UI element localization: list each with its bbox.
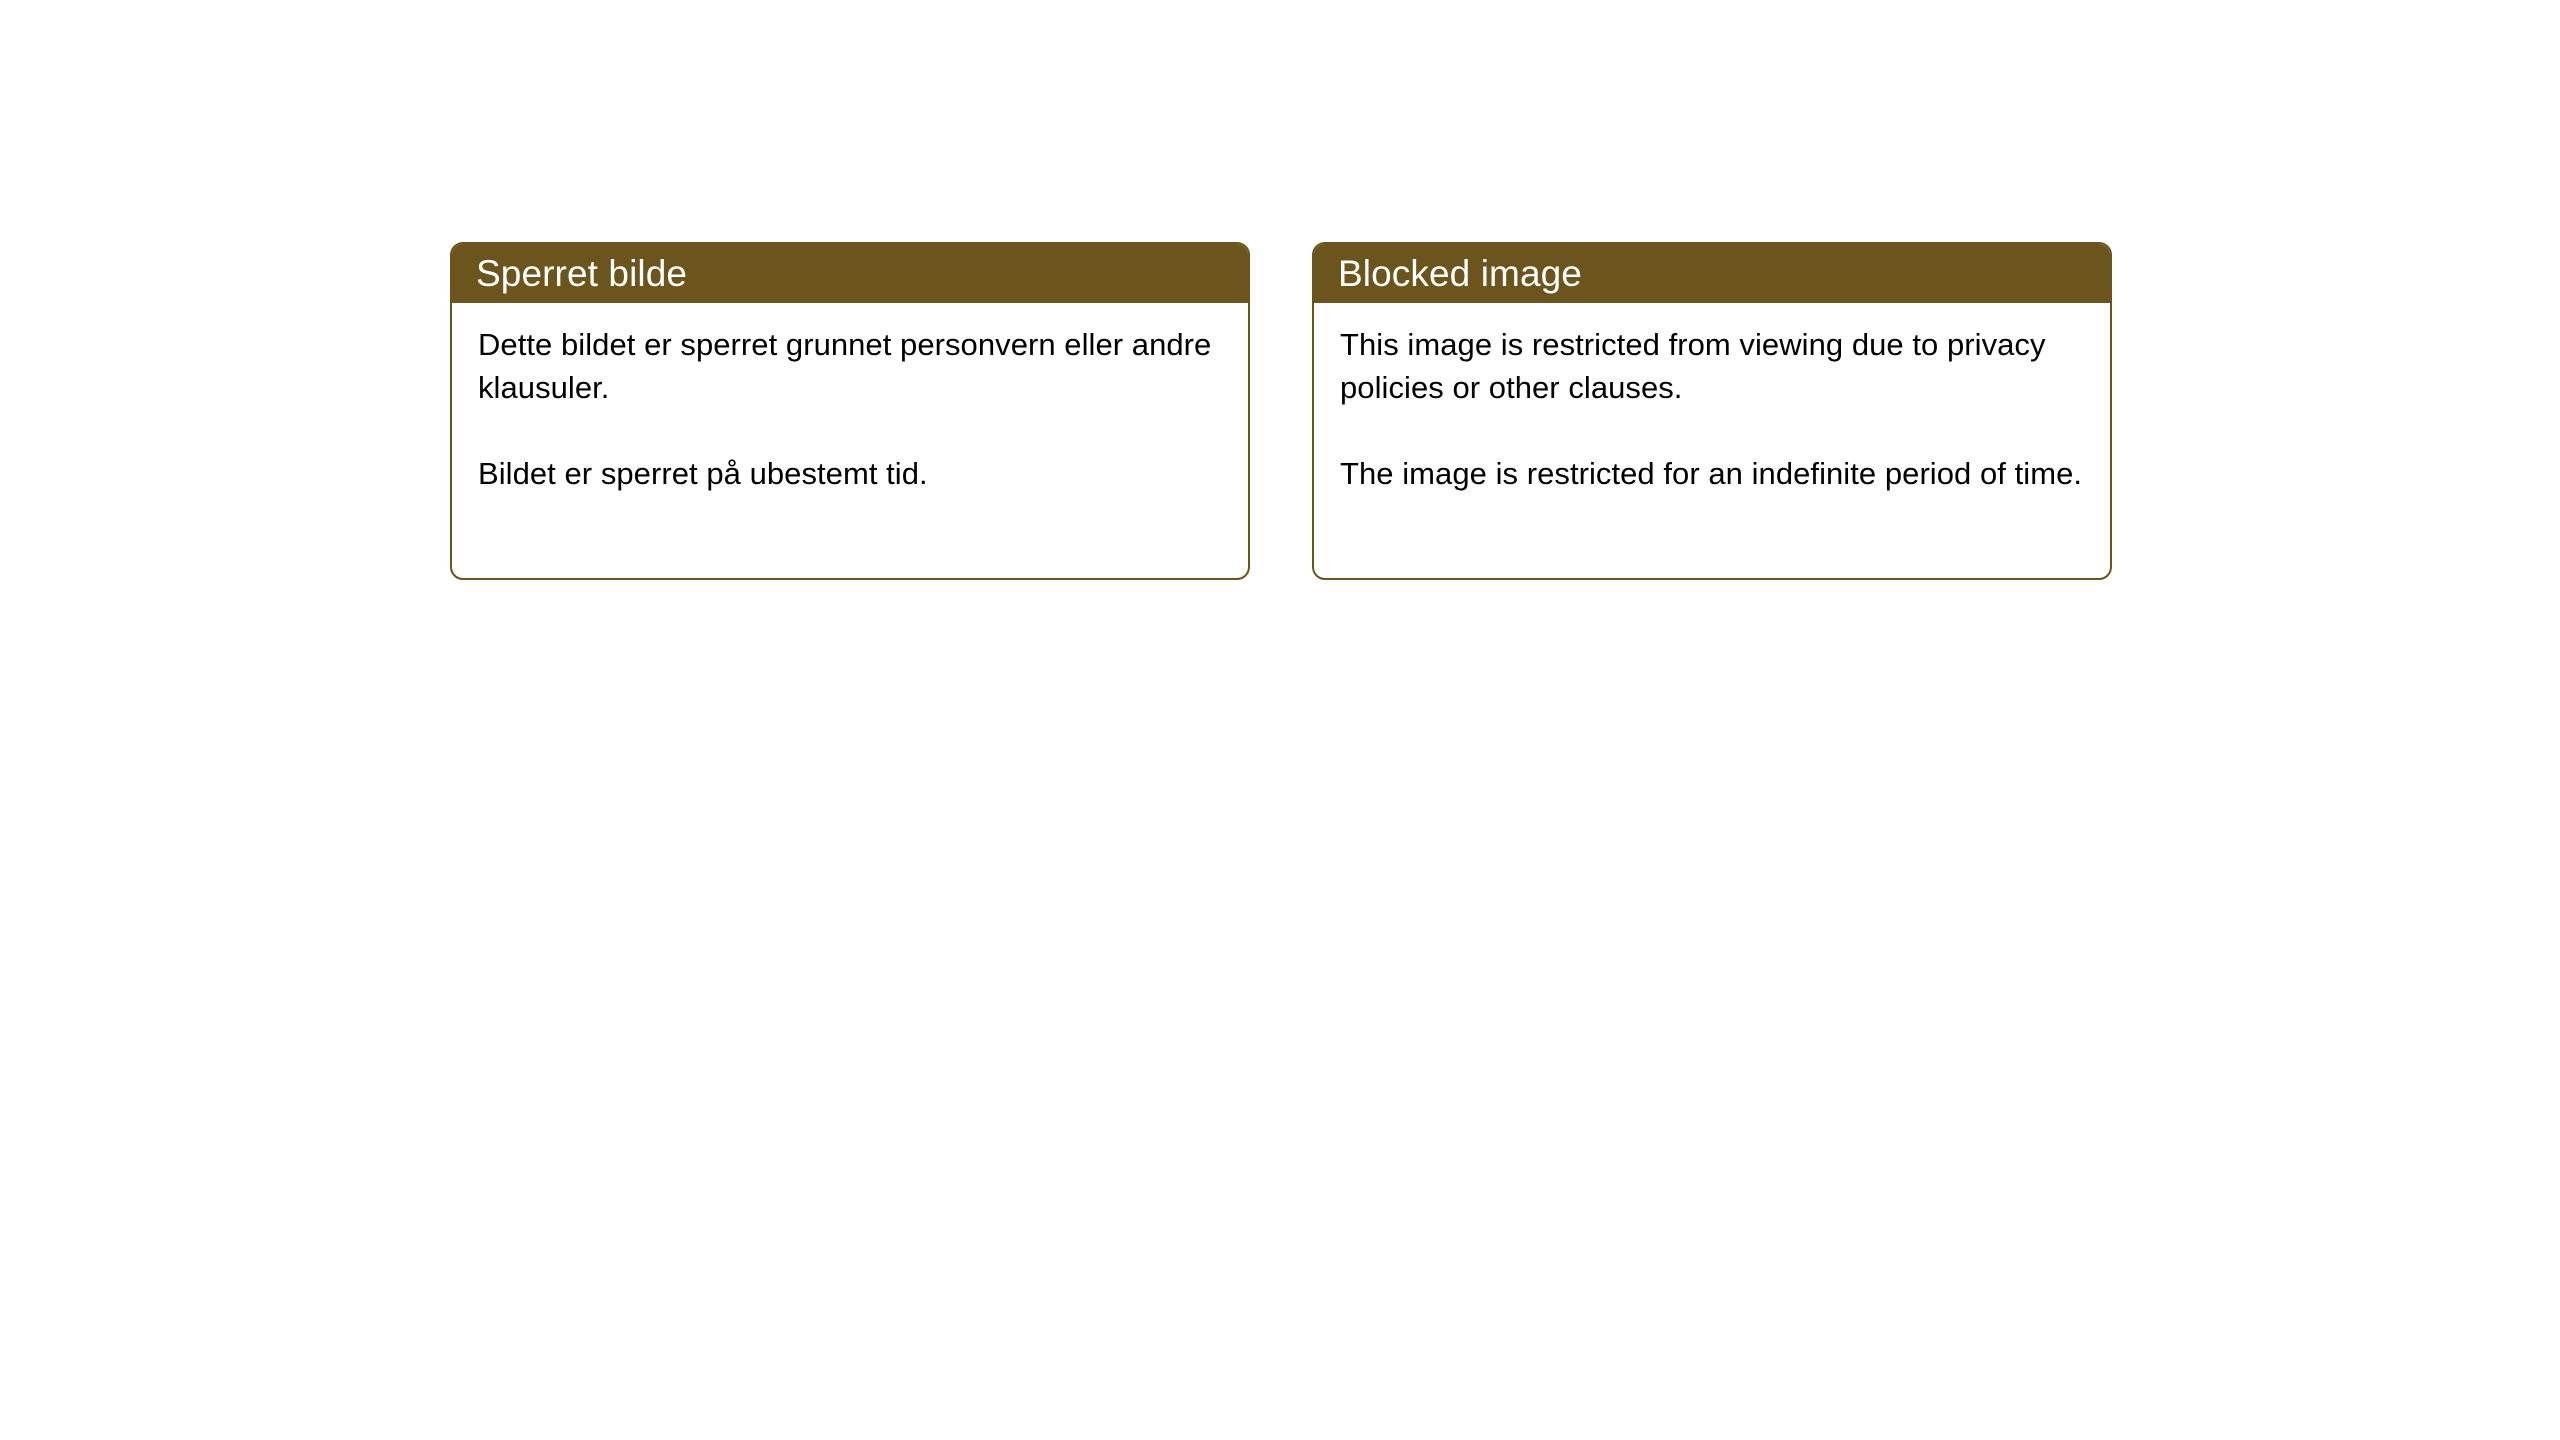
- card-title-english: Blocked image: [1338, 254, 1582, 294]
- card-paragraph-norwegian-1: Dette bildet er sperret grunnet personve…: [478, 323, 1224, 409]
- blocked-image-card-english: Blocked image This image is restricted f…: [1312, 242, 2112, 580]
- page-canvas: Sperret bilde Dette bildet er sperret gr…: [0, 0, 2560, 1440]
- card-paragraph-english-2: The image is restricted for an indefinit…: [1340, 452, 2086, 495]
- card-header-english: Blocked image: [1314, 244, 2110, 303]
- card-body-english: This image is restricted from viewing du…: [1314, 303, 2110, 495]
- blocked-image-card-norwegian: Sperret bilde Dette bildet er sperret gr…: [450, 242, 1250, 580]
- card-title-norwegian: Sperret bilde: [476, 254, 687, 294]
- card-header-norwegian: Sperret bilde: [452, 244, 1248, 303]
- card-body-norwegian: Dette bildet er sperret grunnet personve…: [452, 303, 1248, 495]
- card-paragraph-norwegian-2: Bildet er sperret på ubestemt tid.: [478, 452, 1224, 495]
- card-paragraph-english-1: This image is restricted from viewing du…: [1340, 323, 2086, 409]
